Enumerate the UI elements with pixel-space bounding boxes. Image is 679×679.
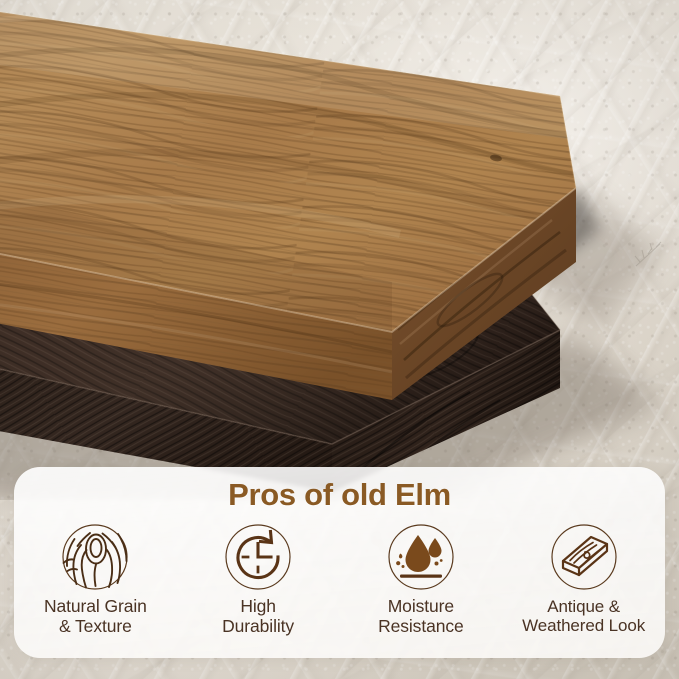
card-title: Pros of old Elm <box>14 477 665 513</box>
feature-natural-grain[interactable]: Natural Grain & Texture <box>15 523 175 636</box>
pros-info-card: Pros of old Elm <box>14 467 665 658</box>
feature-label: Natural Grain & Texture <box>44 597 147 636</box>
feature-high-durability[interactable]: High Durability <box>178 523 338 636</box>
wood-grain-icon <box>61 523 129 591</box>
features-row: Natural Grain & Texture <box>14 523 665 636</box>
product-infographic: Pros of old Elm <box>0 0 679 679</box>
wood-board-stack <box>0 0 679 500</box>
feature-label: Moisture Resistance <box>378 597 464 636</box>
feature-label: High Durability <box>222 597 294 636</box>
dried-sprig-decoration <box>630 236 674 280</box>
water-droplet-icon <box>387 523 455 591</box>
clock-arrow-icon <box>224 523 292 591</box>
feature-antique-weathered[interactable]: Antique & Weathered Look <box>504 523 664 635</box>
feature-moisture-resistance[interactable]: Moisture Resistance <box>341 523 501 636</box>
wood-plank-icon <box>550 523 618 591</box>
feature-label: Antique & Weathered Look <box>522 597 645 635</box>
